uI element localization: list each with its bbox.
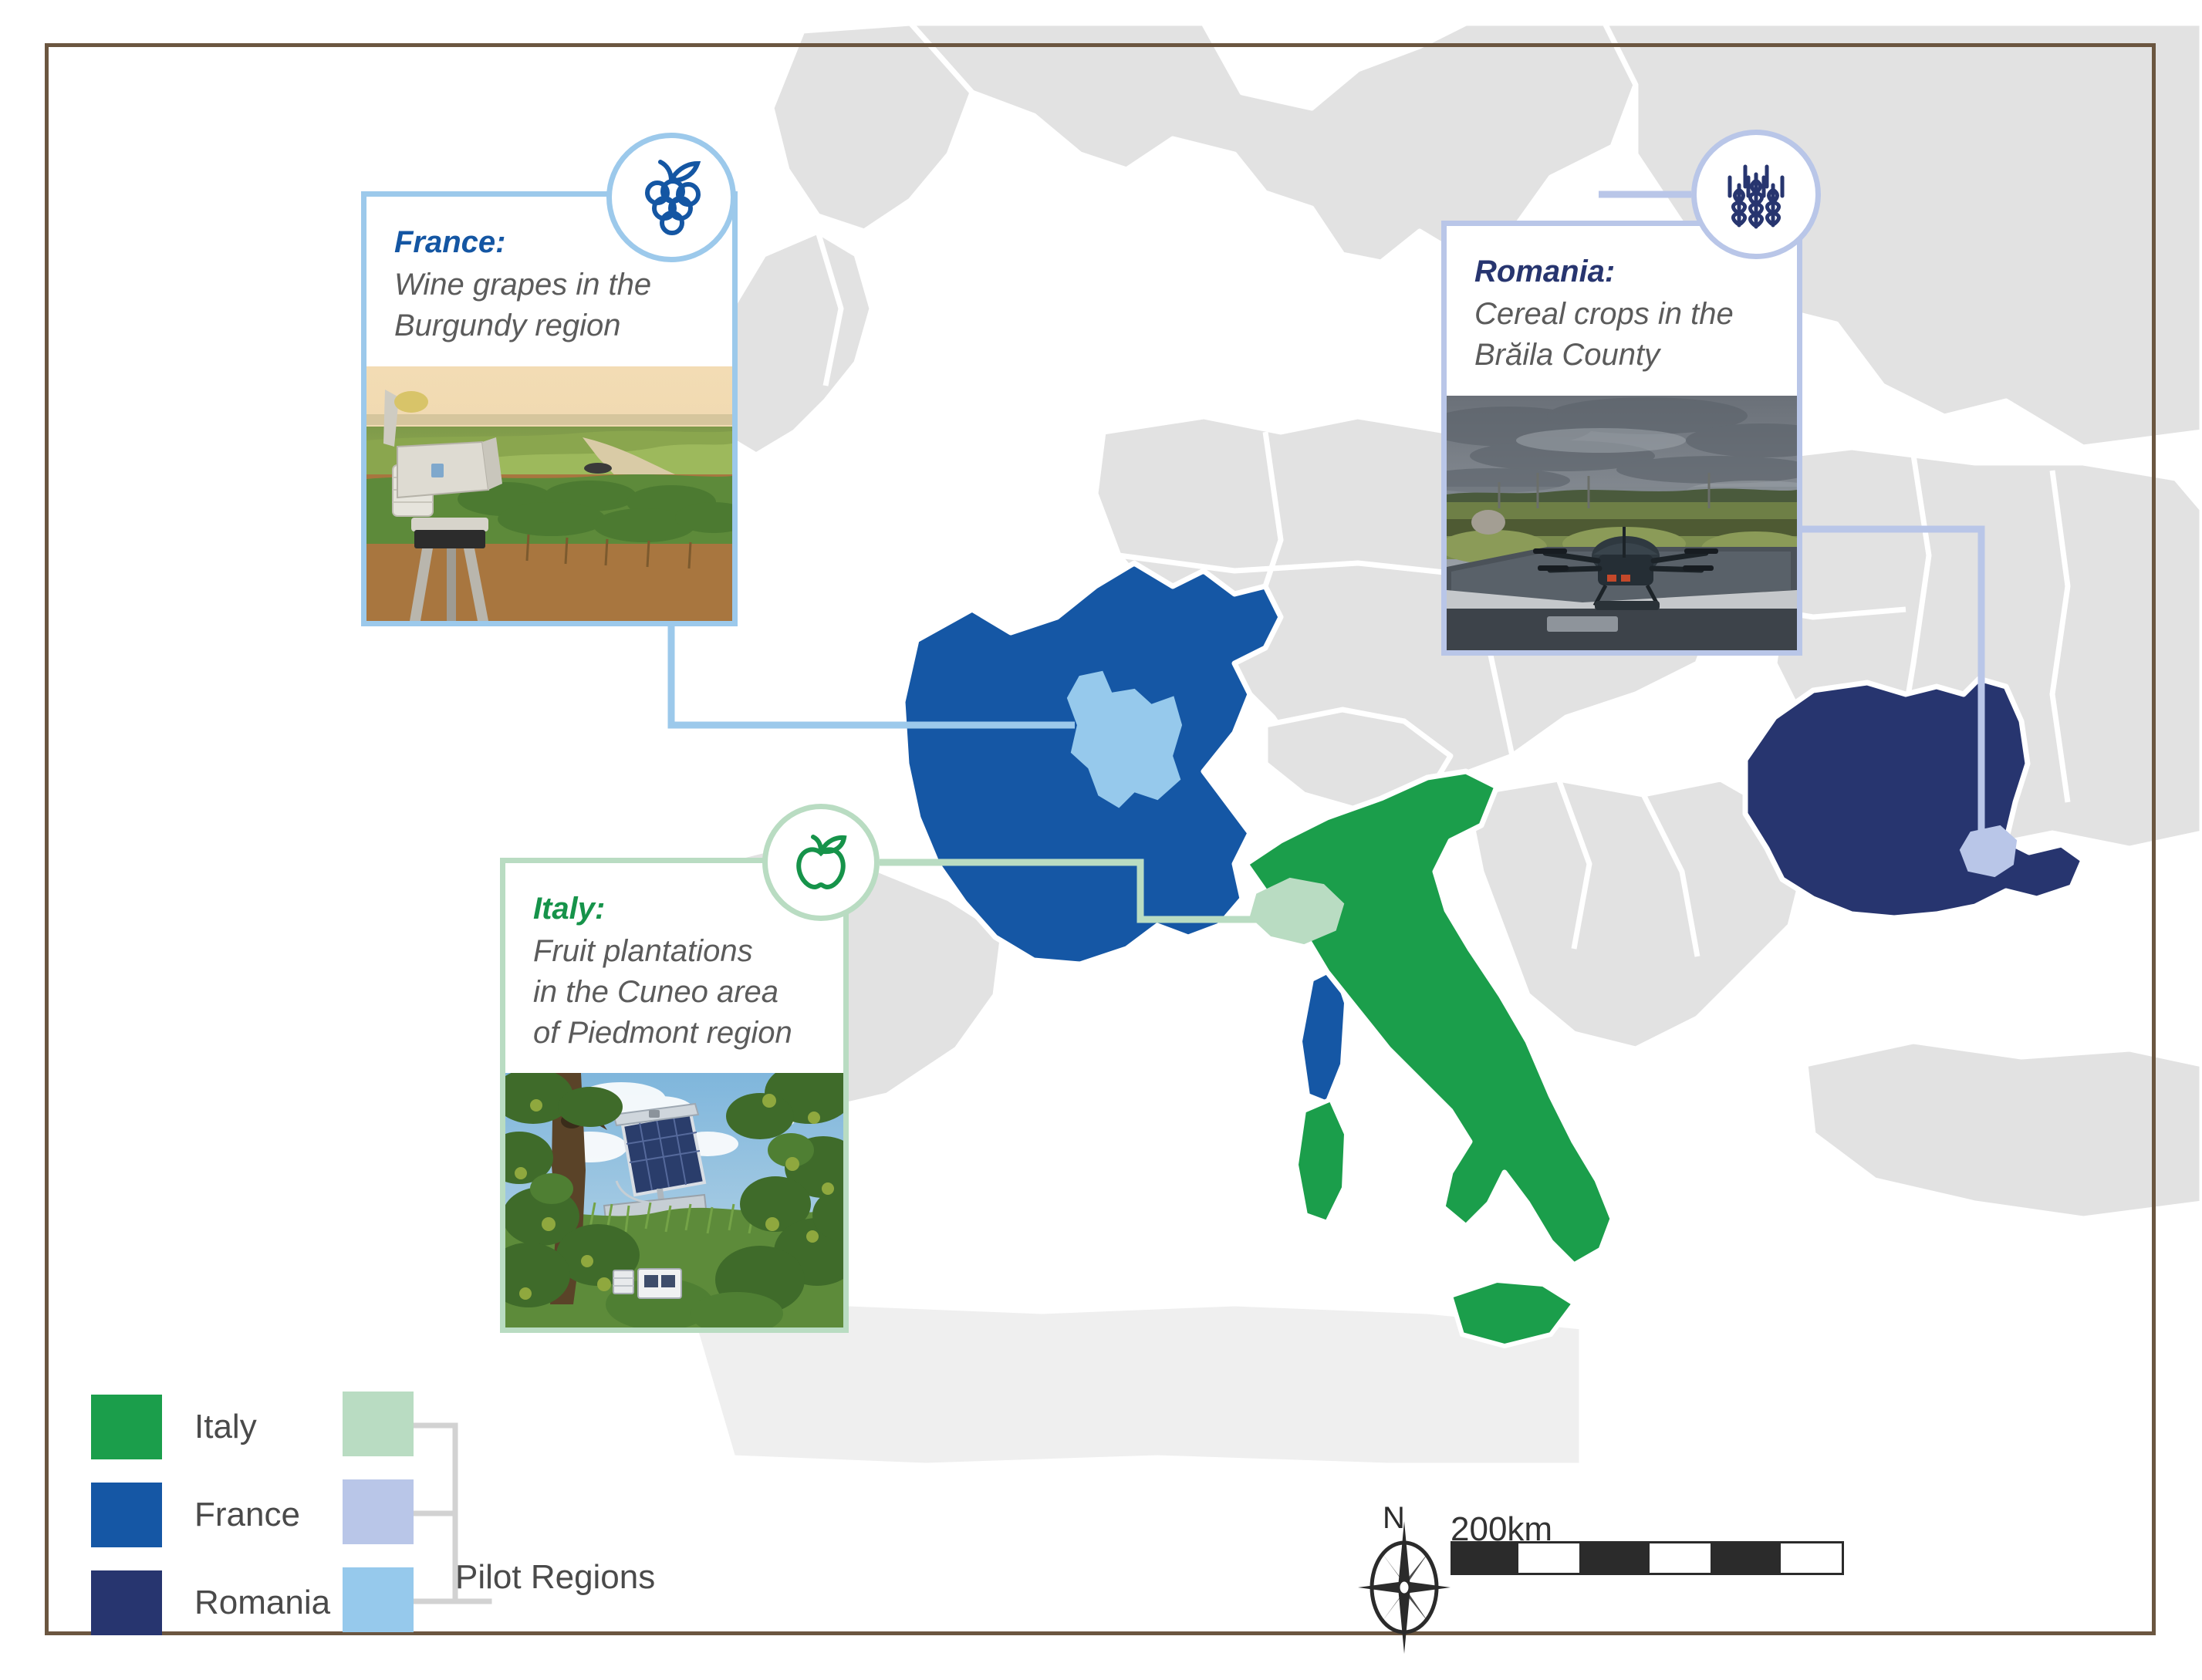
callout-romania[interactable]: Romania: Cereal crops in the Brăila Coun… (1441, 221, 1802, 656)
callout-france-photo (361, 366, 738, 626)
callout-italy-description: Fruit plantations in the Cuneo area of P… (533, 931, 820, 1053)
scale-segment (1582, 1541, 1647, 1575)
callout-romania-description: Cereal crops in the Brăila County (1474, 294, 1774, 376)
legend-swatch-romania (91, 1570, 162, 1635)
pilot-bracket (414, 1392, 506, 1646)
scale-segment (1647, 1541, 1713, 1575)
grape-icon (628, 154, 714, 241)
callout-italy-photo (500, 1073, 849, 1333)
legend-item-italy[interactable]: Italy (91, 1392, 330, 1462)
callout-france-description: Wine grapes in the Burgundy region (394, 265, 709, 346)
scale-segment (1516, 1541, 1582, 1575)
legend-swatch-pilot-italy (343, 1392, 414, 1456)
apple-icon (782, 824, 860, 901)
compass-north-label: N (1383, 1501, 1405, 1536)
wheat-icon-badge[interactable] (1691, 130, 1821, 259)
legend-swatch-italy (91, 1395, 162, 1459)
apple-icon-badge[interactable] (762, 804, 880, 921)
wheat-icon (1713, 151, 1799, 238)
legend-swatch-france (91, 1483, 162, 1547)
legend-label-france: France (194, 1496, 300, 1534)
legend-swatch-pilot-france (343, 1567, 414, 1632)
callout-italy[interactable]: Italy: Fruit plantations in the Cuneo ar… (500, 858, 849, 1333)
scale-segment (1451, 1541, 1516, 1575)
legend-label-romania: Romania (194, 1584, 330, 1622)
scale-segment (1778, 1541, 1844, 1575)
callout-romania-photo (1441, 396, 1802, 656)
legend-pilot-regions (343, 1392, 414, 1655)
callout-romania-title: Romania: (1474, 252, 1774, 291)
scale-segment (1713, 1541, 1778, 1575)
legend-countries: Italy France Romania (91, 1392, 330, 1655)
legend-pilot-label: Pilot Regions (455, 1558, 655, 1597)
legend-label-italy: Italy (194, 1408, 257, 1446)
scale-bar (1451, 1541, 1844, 1579)
legend-item-france[interactable]: France (91, 1479, 330, 1550)
legend-item-romania[interactable]: Romania (91, 1567, 330, 1638)
grape-icon-badge[interactable] (606, 133, 736, 262)
legend-swatch-pilot-romania (343, 1479, 414, 1544)
